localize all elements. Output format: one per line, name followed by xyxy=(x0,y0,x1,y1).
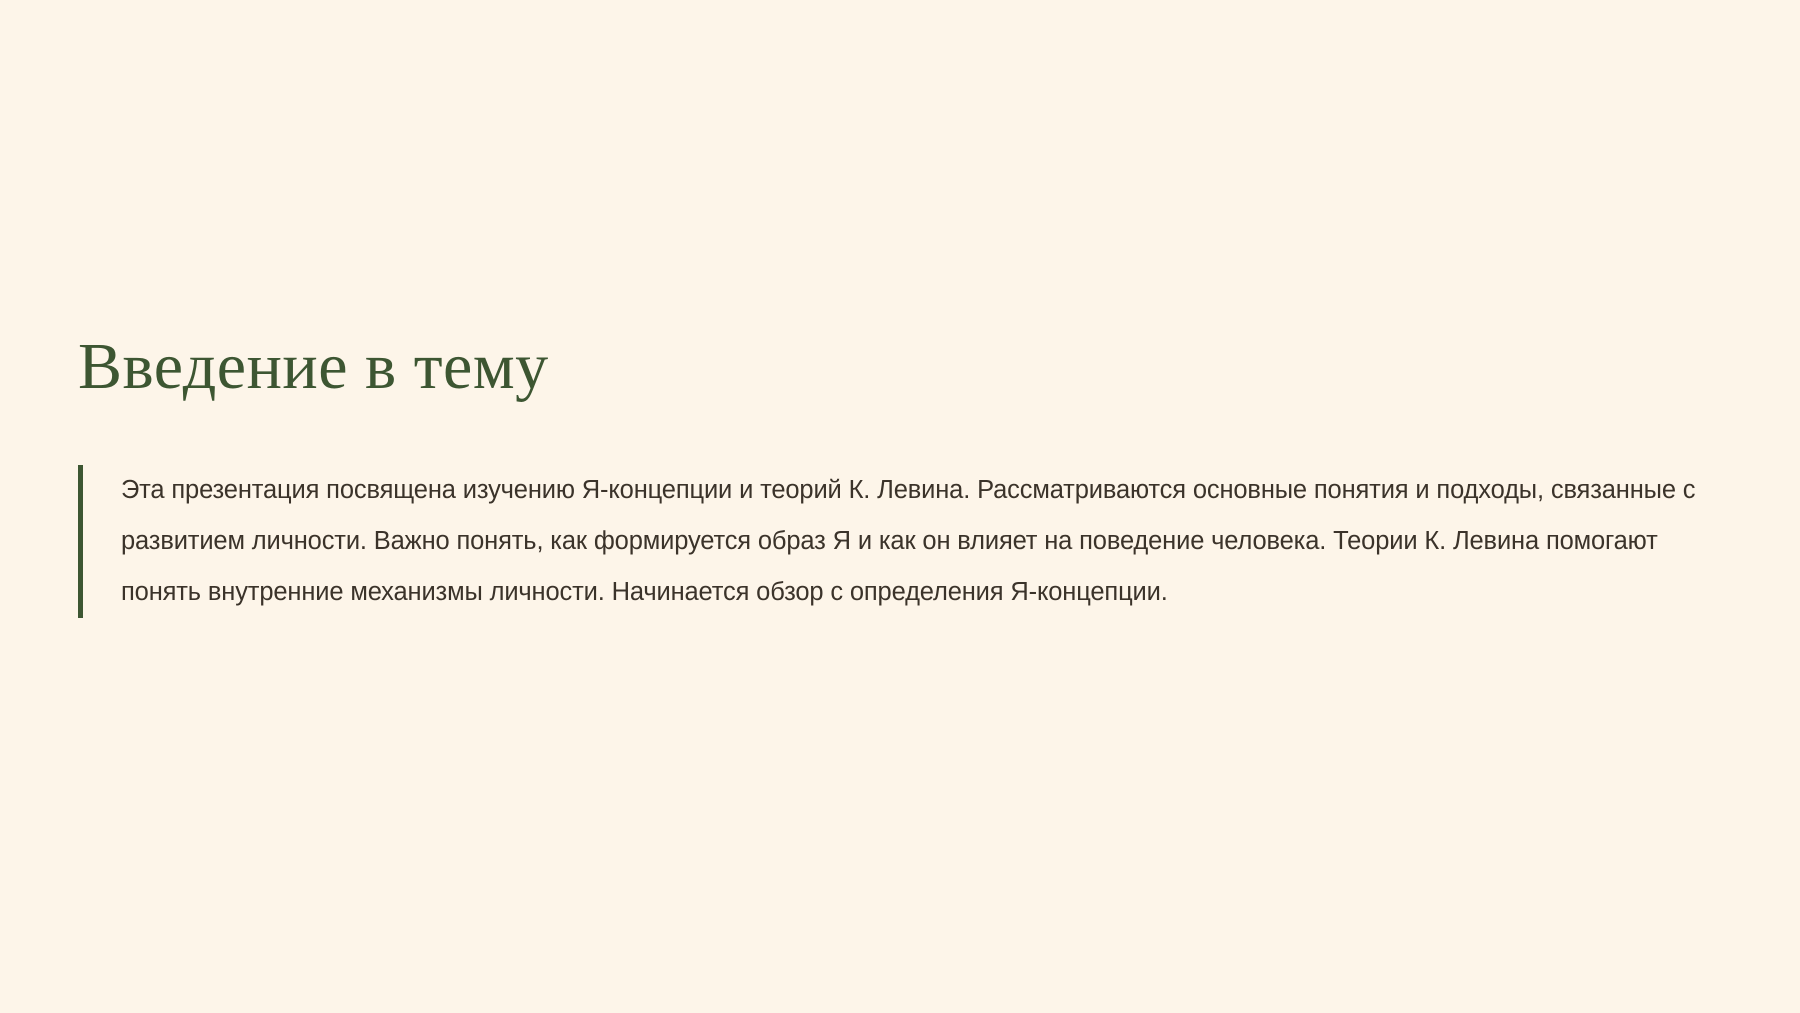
body-text-wrap: Эта презентация посвящена изучению Я-кон… xyxy=(83,465,1728,618)
slide: Введение в тему Эта презентация посвящен… xyxy=(0,0,1800,1013)
page-title: Введение в тему xyxy=(78,330,549,404)
body-block: Эта презентация посвящена изучению Я-кон… xyxy=(78,465,1728,618)
body-paragraph: Эта презентация посвящена изучению Я-кон… xyxy=(121,465,1728,618)
